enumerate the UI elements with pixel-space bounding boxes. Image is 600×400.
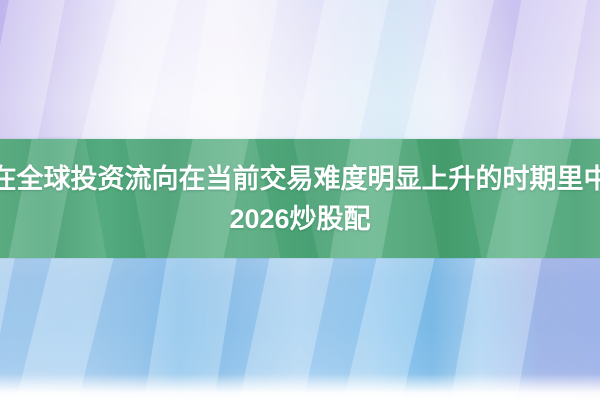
background-bottom-blue-tint bbox=[0, 258, 600, 400]
headline-line-1: 在全球投资流向在当前交易难度明显上升的时期里中 bbox=[0, 161, 600, 197]
headline-text-block: 在全球投资流向在当前交易难度明显上升的时期里中 2026炒股配 bbox=[0, 139, 600, 258]
background-bottom-white-fade bbox=[0, 374, 600, 400]
headline-line-2: 2026炒股配 bbox=[229, 201, 370, 237]
article-header-banner: 在全球投资流向在当前交易难度明显上升的时期里中 2026炒股配 bbox=[0, 0, 600, 400]
background-top-lavender-tint bbox=[0, 0, 600, 140]
